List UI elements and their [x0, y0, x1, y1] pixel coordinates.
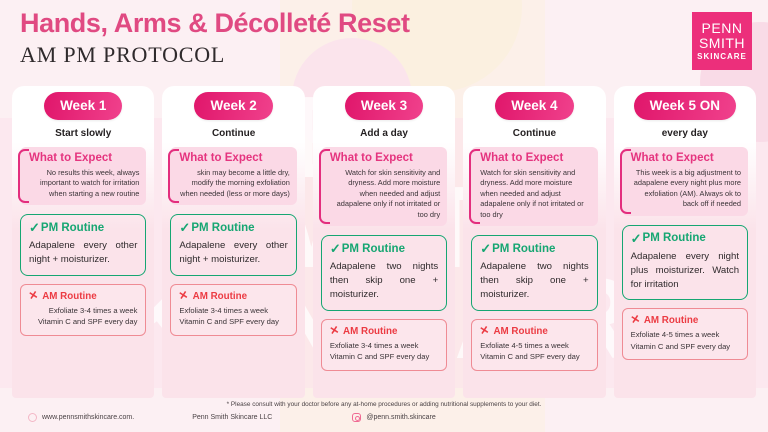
pm-routine-title-2: ✓ PM Routine — [179, 221, 287, 234]
what-to-expect-title-2: What to Expect — [179, 152, 289, 165]
logo-line-smith: SMITH — [699, 36, 745, 51]
page-footer: * Please consult with your doctor before… — [0, 398, 768, 432]
week-column-1: Week 1 Start slowly What to Expect No re… — [12, 86, 154, 398]
am-routine-label-2: AM Routine — [193, 291, 247, 302]
what-to-expect-box-3: What to Expect Watch for skin sensitivit… — [321, 147, 447, 226]
what-to-expect-title-5: What to Expect — [631, 152, 741, 165]
pm-routine-box-1: ✓ PM Routine Adapalene every other night… — [20, 214, 146, 276]
footer-company: Penn Smith Skincare LLC — [192, 414, 272, 421]
am-routine-body-4: Exfoliate 4-5 times a week Vitamin C and… — [480, 340, 588, 363]
am-routine-title-1: ✕ AM Routine — [29, 291, 137, 302]
am-routine-label-3: AM Routine — [343, 326, 397, 337]
what-to-expect-body-3: Watch for skin sensitivity and dryness. … — [330, 168, 440, 221]
am-routine-title-3: ✕ AM Routine — [330, 326, 438, 337]
pm-routine-title-1: ✓ PM Routine — [29, 221, 137, 234]
what-to-expect-body-5: This week is a big adjustment to adapale… — [631, 168, 741, 210]
footer-instagram-label: @penn.smith.skincare — [366, 414, 435, 421]
what-to-expect-box-4: What to Expect Watch for skin sensitivit… — [471, 147, 597, 226]
check-icon: ✓ — [179, 221, 190, 234]
what-to-expect-body-1: No results this week, always important t… — [29, 168, 139, 200]
pm-routine-body-5: Adapalene every night plus moisturizer. … — [631, 250, 739, 292]
pm-routine-box-2: ✓ PM Routine Adapalene every other night… — [170, 214, 296, 276]
x-icon: ✕ — [630, 315, 641, 328]
am-routine-title-5: ✕ AM Routine — [631, 315, 739, 326]
pm-routine-title-4: ✓ PM Routine — [480, 242, 588, 255]
pm-routine-body-2: Adapalene every other night + moisturize… — [179, 239, 287, 267]
week-subtitle-1: Start slowly — [20, 128, 146, 139]
am-routine-box-3: ✕ AM Routine Exfoliate 3-4 times a week … — [321, 319, 447, 371]
am-routine-title-2: ✕ AM Routine — [179, 291, 287, 302]
week-badge-5: Week 5 ON — [634, 92, 736, 120]
pm-routine-title-3: ✓ PM Routine — [330, 242, 438, 255]
what-to-expect-title-1: What to Expect — [29, 152, 139, 165]
pm-routine-box-3: ✓ PM Routine Adapalene two nights then s… — [321, 235, 447, 311]
am-routine-label-5: AM Routine — [644, 315, 698, 326]
week-column-2: Week 2 Continue What to Expect skin may … — [162, 86, 304, 398]
am-routine-title-4: ✕ AM Routine — [480, 326, 588, 337]
what-to-expect-box-1: What to Expect No results this week, alw… — [20, 147, 146, 205]
what-to-expect-title-3: What to Expect — [330, 152, 440, 165]
footer-website[interactable]: www.pennsmithskincare.com. — [28, 413, 134, 422]
am-routine-label-1: AM Routine — [42, 291, 96, 302]
brand-logo: PENN SMITH SKINCARE — [692, 12, 752, 70]
week-column-5: Week 5 ON every day What to Expect This … — [614, 86, 756, 398]
what-to-expect-box-5: What to Expect This week is a big adjust… — [622, 147, 748, 216]
am-routine-label-4: AM Routine — [493, 326, 547, 337]
week-column-4: Week 4 Continue What to Expect Watch for… — [463, 86, 605, 398]
disclaimer-text: * Please consult with your doctor before… — [0, 401, 768, 408]
week-badge-2: Week 2 — [194, 92, 272, 120]
am-routine-body-5: Exfoliate 4-5 times a week Vitamin C and… — [631, 329, 739, 352]
week-subtitle-2: Continue — [170, 128, 296, 139]
footer-links: www.pennsmithskincare.com. Penn Smith Sk… — [0, 413, 768, 422]
week-column-3: Week 3 Add a day What to Expect Watch fo… — [313, 86, 455, 398]
am-routine-body-2: Exfoliate 3-4 times a week Vitamin C and… — [179, 305, 287, 328]
x-icon: ✕ — [178, 290, 189, 303]
what-to-expect-box-2: What to Expect skin may become a little … — [170, 147, 296, 205]
pm-routine-body-1: Adapalene every other night + moisturize… — [29, 239, 137, 267]
week-columns: Week 1 Start slowly What to Expect No re… — [0, 86, 768, 398]
what-to-expect-body-2: skin may become a little dry, modify the… — [179, 168, 289, 200]
am-routine-body-3: Exfoliate 3-4 times a week Vitamin C and… — [330, 340, 438, 363]
page-header: Hands, Arms & Décolleté Reset AM PM PROT… — [0, 0, 768, 86]
instagram-icon — [352, 413, 361, 422]
page-title: Hands, Arms & Décolleté Reset — [20, 9, 754, 37]
logo-line-penn: PENN — [702, 21, 743, 36]
globe-icon — [28, 413, 37, 422]
x-icon: ✕ — [479, 325, 490, 338]
pm-routine-body-4: Adapalene two nights then skip one + moi… — [480, 260, 588, 302]
pm-routine-box-5: ✓ PM Routine Adapalene every night plus … — [622, 225, 748, 301]
week-subtitle-4: Continue — [471, 128, 597, 139]
x-icon: ✕ — [28, 290, 39, 303]
am-routine-box-4: ✕ AM Routine Exfoliate 4-5 times a week … — [471, 319, 597, 371]
pm-routine-label-4: PM Routine — [492, 243, 555, 255]
week-subtitle-3: Add a day — [321, 128, 447, 139]
footer-website-label: www.pennsmithskincare.com. — [42, 414, 134, 421]
pm-routine-label-3: PM Routine — [342, 243, 405, 255]
week-badge-4: Week 4 — [495, 92, 573, 120]
logo-line-skincare: SKINCARE — [697, 52, 747, 61]
what-to-expect-body-4: Watch for skin sensitivity and dryness. … — [480, 168, 590, 221]
page-subtitle: AM PM PROTOCOL — [20, 42, 754, 68]
week-badge-3: Week 3 — [345, 92, 423, 120]
week-badge-1: Week 1 — [44, 92, 122, 120]
footer-company-label: Penn Smith Skincare LLC — [192, 414, 272, 421]
am-routine-box-1: ✕ AM Routine Exfoliate 3-4 times a week … — [20, 284, 146, 336]
am-routine-box-2: ✕ AM Routine Exfoliate 3-4 times a week … — [170, 284, 296, 336]
check-icon: ✓ — [330, 242, 341, 255]
am-routine-box-5: ✕ AM Routine Exfoliate 4-5 times a week … — [622, 308, 748, 360]
footer-instagram[interactable]: @penn.smith.skincare — [352, 413, 435, 422]
x-icon: ✕ — [329, 325, 340, 338]
what-to-expect-title-4: What to Expect — [480, 152, 590, 165]
week-subtitle-5: every day — [622, 128, 748, 139]
pm-routine-box-4: ✓ PM Routine Adapalene two nights then s… — [471, 235, 597, 311]
check-icon: ✓ — [29, 221, 40, 234]
pm-routine-label-2: PM Routine — [191, 222, 254, 234]
pm-routine-label-5: PM Routine — [643, 232, 706, 244]
check-icon: ✓ — [480, 242, 491, 255]
check-icon: ✓ — [631, 232, 642, 245]
am-routine-body-1: Exfoliate 3-4 times a week Vitamin C and… — [29, 305, 137, 328]
pm-routine-title-5: ✓ PM Routine — [631, 232, 739, 245]
pm-routine-label-1: PM Routine — [41, 222, 104, 234]
pm-routine-body-3: Adapalene two nights then skip one + moi… — [330, 260, 438, 302]
